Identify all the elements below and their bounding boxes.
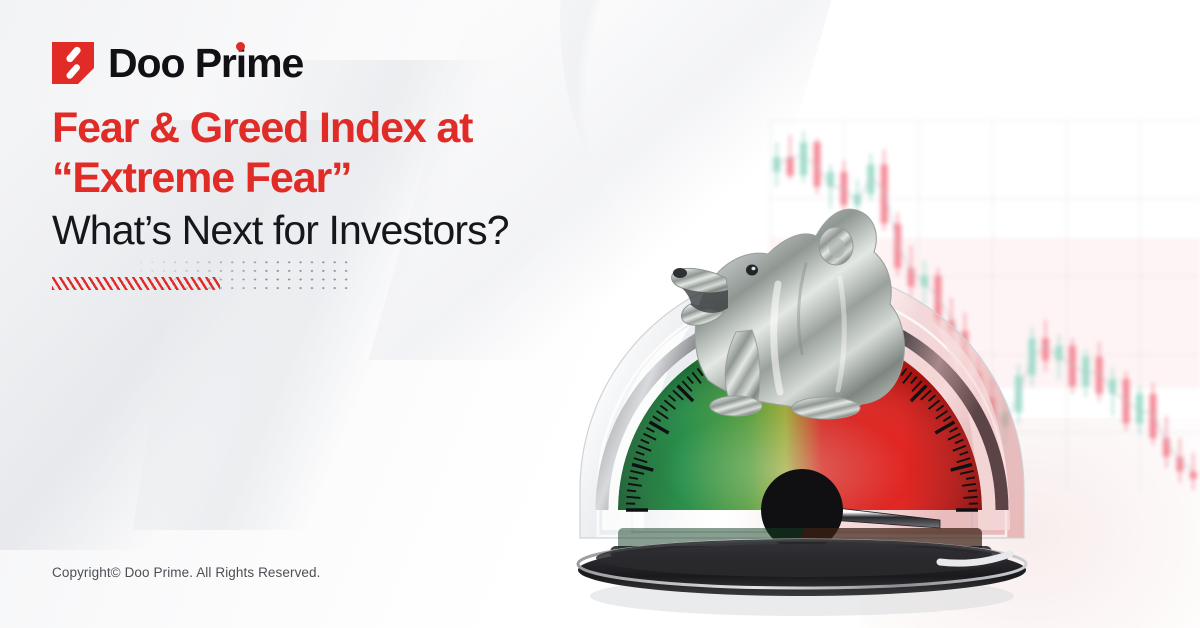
headline: Fear & Greed Index at “Extreme Fear” bbox=[52, 104, 472, 204]
red-hatch-bar bbox=[52, 277, 220, 290]
fear-greed-index-banner: Doo Prime Fear & Greed Index at “Extreme… bbox=[0, 0, 1200, 628]
logo-accent-dot bbox=[236, 42, 245, 51]
text-content: Doo Prime Fear & Greed Index at “Extreme… bbox=[52, 0, 672, 628]
brand-wordmark: Doo Prime bbox=[108, 43, 303, 84]
decorative-divider bbox=[52, 258, 352, 302]
doo-prime-logo-icon bbox=[52, 42, 94, 84]
brand-name-text: Doo Prime bbox=[108, 40, 303, 86]
copyright-text: Copyright© Doo Prime. All Rights Reserve… bbox=[52, 565, 321, 580]
subheadline: What’s Next for Investors? bbox=[52, 206, 509, 255]
brand-logo[interactable]: Doo Prime bbox=[52, 42, 303, 84]
headline-line-1: Fear & Greed Index at bbox=[52, 104, 472, 152]
headline-line-2: “Extreme Fear” bbox=[52, 154, 472, 204]
